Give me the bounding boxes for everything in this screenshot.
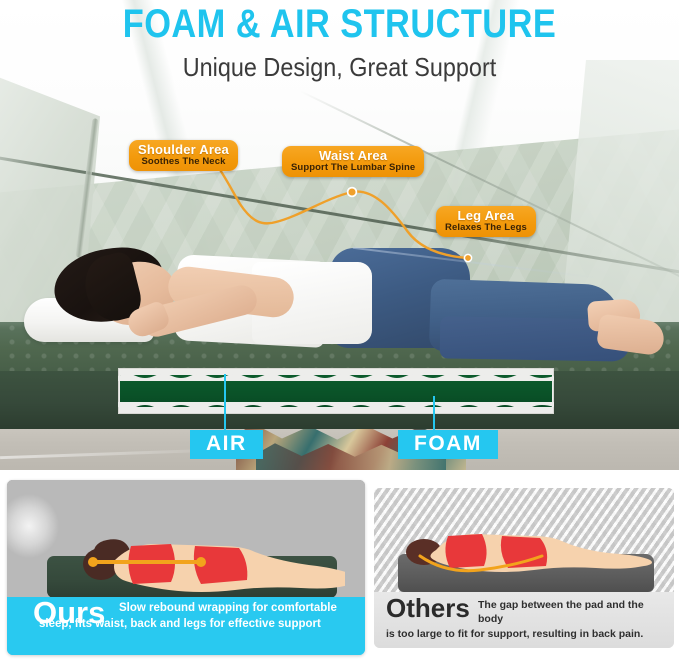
others-description-line1: The gap between the pad and the body	[478, 599, 644, 625]
ours-description-line2: sleep, fits waist, back and legs for eff…	[39, 617, 357, 632]
air-label-connector	[224, 374, 226, 434]
ours-description-line1: Slow rebound wrapping for comfortable	[119, 602, 337, 614]
foam-label: FOAM	[398, 430, 498, 459]
ours-caption: Ours Slow rebound wrapping for comfortab…	[7, 597, 365, 655]
callout-leg-title: Leg Area	[445, 209, 527, 222]
callout-shoulder-subtitle: Soothes The Neck	[138, 157, 229, 167]
page-title: FOAM & AIR STRUCTURE	[48, 2, 632, 47]
panel-others[interactable]: Others The gap between the pad and the b…	[374, 488, 674, 648]
callout-shoulder-area[interactable]: Shoulder Area Soothes The Neck	[129, 140, 238, 171]
page-subtitle: Unique Design, Great Support	[34, 52, 645, 83]
callout-leg-area[interactable]: Leg Area Relaxes The Legs	[436, 206, 536, 237]
callout-waist-title: Waist Area	[291, 149, 415, 162]
panel-ours[interactable]: Ours Slow rebound wrapping for comfortab…	[7, 480, 365, 655]
others-description: The gap between the pad and the body is …	[374, 598, 674, 641]
others-caption: Others The gap between the pad and the b…	[374, 592, 674, 648]
callout-waist-subtitle: Support The Lumbar Spine	[291, 163, 415, 173]
ours-description: Slow rebound wrapping for comfortable sl…	[7, 601, 365, 632]
others-description-line2: is too large to fit for support, resulti…	[386, 627, 668, 641]
callout-waist-area[interactable]: Waist Area Support The Lumbar Spine	[282, 146, 424, 177]
infographic-root: Shoulder Area Soothes The Neck Waist Are…	[0, 0, 679, 659]
foam-label-connector	[433, 396, 435, 434]
mattress-cross-section	[118, 368, 554, 414]
others-body-figure	[392, 516, 660, 578]
air-label: AIR	[190, 430, 263, 459]
foam-wave-top	[118, 372, 554, 381]
callout-leg-subtitle: Relaxes The Legs	[445, 223, 527, 233]
ours-body-figure	[35, 520, 345, 604]
callout-shoulder-title: Shoulder Area	[138, 143, 229, 156]
foam-wave-bottom	[118, 402, 554, 411]
comparison-section: Ours Slow rebound wrapping for comfortab…	[0, 476, 679, 659]
